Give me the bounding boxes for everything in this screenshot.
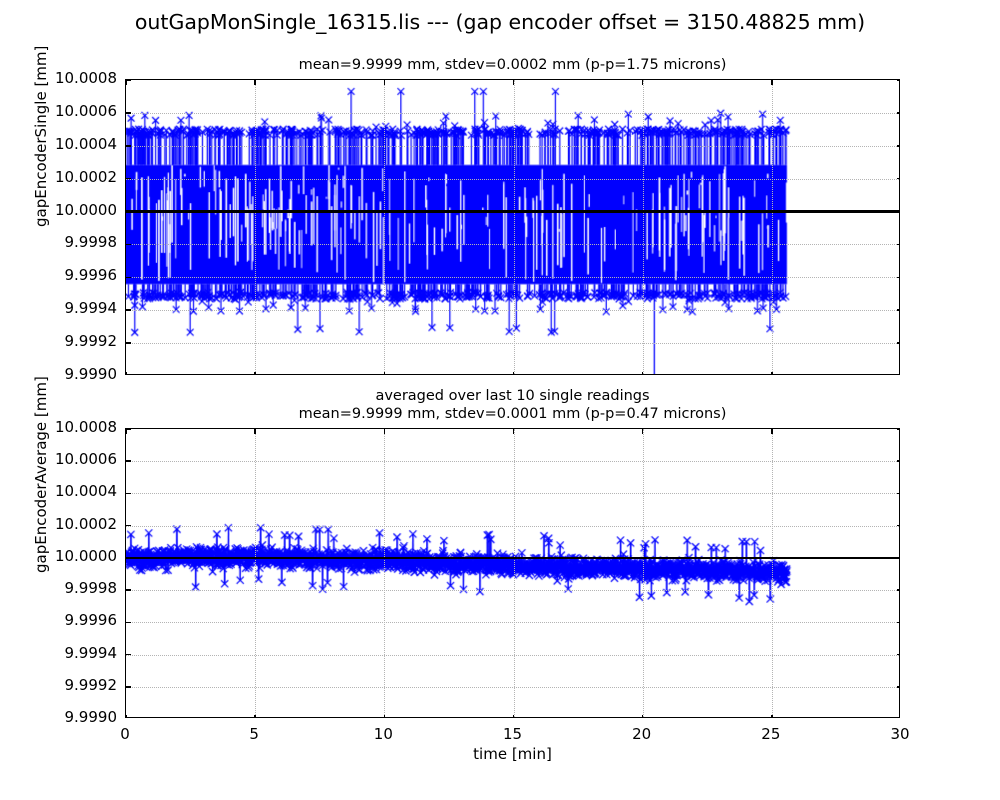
- gridline-horizontal: [126, 461, 899, 462]
- xtick-mark-bottom: [125, 715, 127, 719]
- figure-title: outGapMonSingle_16315.lis --- (gap encod…: [0, 10, 1000, 34]
- gridline-horizontal: [126, 590, 899, 591]
- gridline-horizontal: [126, 113, 899, 114]
- ytick-mark-left: [126, 309, 131, 311]
- gridline-vertical: [514, 80, 515, 374]
- ytick-label: 9.9994: [7, 299, 117, 317]
- xtick-mark-top: [771, 80, 773, 85]
- gridline-horizontal: [126, 244, 899, 245]
- gridline-horizontal: [126, 179, 899, 180]
- bottom-plot-xlabel: time [min]: [125, 745, 900, 763]
- ytick-label: 9.9998: [7, 579, 117, 597]
- ytick-mark-left: [126, 342, 131, 344]
- ytick-mark-right: [897, 686, 901, 688]
- ytick-label: 9.9996: [7, 266, 117, 284]
- ytick-mark-left: [126, 244, 131, 246]
- ytick-mark-left: [126, 589, 131, 591]
- xtick-mark-top: [642, 80, 644, 85]
- xtick-label: 0: [105, 725, 145, 743]
- xtick-mark-bottom: [513, 372, 515, 376]
- ytick-mark-right: [897, 525, 901, 527]
- xtick-mark-top: [513, 80, 515, 85]
- xtick-label: 25: [751, 725, 791, 743]
- ytick-label: 10.0006: [7, 102, 117, 120]
- ytick-label: 9.9990: [7, 365, 117, 383]
- xtick-mark-top: [771, 429, 773, 434]
- ytick-mark-left: [126, 686, 131, 688]
- ytick-label: 10.0000: [7, 547, 117, 565]
- xtick-mark-top: [254, 80, 256, 85]
- ytick-mark-left: [126, 112, 131, 114]
- xtick-mark-bottom: [384, 715, 386, 719]
- xtick-mark-top: [384, 80, 386, 85]
- ytick-label: 10.0006: [7, 450, 117, 468]
- bottom-plot-subtitle: averaged over last 10 single readings: [125, 388, 900, 404]
- gridline-horizontal: [126, 526, 899, 527]
- ytick-mark-right: [897, 244, 901, 246]
- ytick-mark-left: [126, 654, 131, 656]
- ytick-mark-right: [897, 309, 901, 311]
- gridline-horizontal: [126, 277, 899, 278]
- ytick-mark-left: [126, 460, 131, 462]
- xtick-mark-bottom: [642, 715, 644, 719]
- ytick-label: 9.9998: [7, 233, 117, 251]
- gridline-horizontal: [126, 622, 899, 623]
- gridline-horizontal: [126, 493, 899, 494]
- xtick-mark-bottom: [254, 715, 256, 719]
- ytick-mark-left: [126, 525, 131, 527]
- ytick-label: 10.0004: [7, 135, 117, 153]
- ytick-mark-right: [897, 79, 901, 81]
- gridline-vertical: [255, 80, 256, 374]
- top-plot-data-layer: [126, 80, 899, 374]
- ytick-mark-right: [897, 178, 901, 180]
- ytick-label: 10.0008: [7, 418, 117, 436]
- gridline-horizontal: [126, 146, 899, 147]
- ytick-label: 10.0002: [7, 168, 117, 186]
- top-plot-axes: [125, 79, 900, 375]
- ytick-mark-right: [897, 654, 901, 656]
- bottom-plot-axes: [125, 428, 900, 718]
- xtick-mark-top: [125, 429, 127, 434]
- gridline-horizontal: [126, 655, 899, 656]
- ytick-mark-left: [126, 145, 131, 147]
- gridline-horizontal: [126, 343, 899, 344]
- ytick-mark-left: [126, 622, 131, 624]
- ytick-mark-left: [126, 178, 131, 180]
- xtick-label: 20: [622, 725, 662, 743]
- xtick-mark-bottom: [771, 372, 773, 376]
- xtick-mark-bottom: [771, 715, 773, 719]
- ytick-label: 9.9994: [7, 644, 117, 662]
- xtick-mark-top: [384, 429, 386, 434]
- gridline-vertical: [384, 80, 385, 374]
- xtick-label: 5: [234, 725, 274, 743]
- gridline-horizontal: [126, 687, 899, 688]
- ytick-mark-right: [897, 622, 901, 624]
- ytick-label: 9.9992: [7, 332, 117, 350]
- xtick-mark-bottom: [642, 372, 644, 376]
- xtick-mark-top: [125, 80, 127, 85]
- gridline-vertical: [643, 80, 644, 374]
- xtick-mark-top: [642, 429, 644, 434]
- xtick-mark-top: [513, 429, 515, 434]
- reference-mean-line: [126, 210, 899, 212]
- xtick-mark-bottom: [513, 715, 515, 719]
- ytick-mark-right: [897, 493, 901, 495]
- ytick-mark-right: [897, 589, 901, 591]
- xtick-mark-bottom: [384, 372, 386, 376]
- ytick-mark-left: [126, 493, 131, 495]
- xtick-mark-bottom: [254, 372, 256, 376]
- xtick-label: 30: [880, 725, 920, 743]
- ytick-label: 10.0008: [7, 69, 117, 87]
- ytick-label: 9.9992: [7, 676, 117, 694]
- gridline-vertical: [772, 429, 773, 717]
- gridline-vertical: [772, 80, 773, 374]
- xtick-label: 10: [363, 725, 403, 743]
- figure-canvas: outGapMonSingle_16315.lis --- (gap encod…: [0, 0, 1000, 800]
- ytick-mark-right: [897, 277, 901, 279]
- reference-mean-line: [126, 557, 899, 559]
- gridline-horizontal: [126, 310, 899, 311]
- bottom-plot-data-layer: [126, 429, 899, 717]
- gridline-vertical: [384, 429, 385, 717]
- gridline-vertical: [514, 429, 515, 717]
- ytick-mark-right: [897, 460, 901, 462]
- gridline-vertical: [255, 429, 256, 717]
- ytick-mark-left: [126, 277, 131, 279]
- ytick-label: 9.9996: [7, 611, 117, 629]
- xtick-mark-top: [254, 429, 256, 434]
- ytick-mark-right: [897, 342, 901, 344]
- ytick-label: 10.0002: [7, 515, 117, 533]
- ytick-mark-right: [897, 428, 901, 430]
- ytick-label: 10.0004: [7, 482, 117, 500]
- gridline-vertical: [643, 429, 644, 717]
- bottom-plot-title: mean=9.9999 mm, stdev=0.0001 mm (p-p=0.4…: [125, 406, 900, 422]
- ytick-label: 10.0000: [7, 201, 117, 219]
- ytick-mark-right: [897, 112, 901, 114]
- bottom-plot-ylabel: gapEncoderAverage [mm]: [32, 376, 50, 573]
- ytick-label: 9.9990: [7, 708, 117, 726]
- xtick-label: 15: [493, 725, 533, 743]
- top-plot-title: mean=9.9999 mm, stdev=0.0002 mm (p-p=1.7…: [125, 57, 900, 73]
- ytick-mark-right: [897, 145, 901, 147]
- xtick-mark-bottom: [125, 372, 127, 376]
